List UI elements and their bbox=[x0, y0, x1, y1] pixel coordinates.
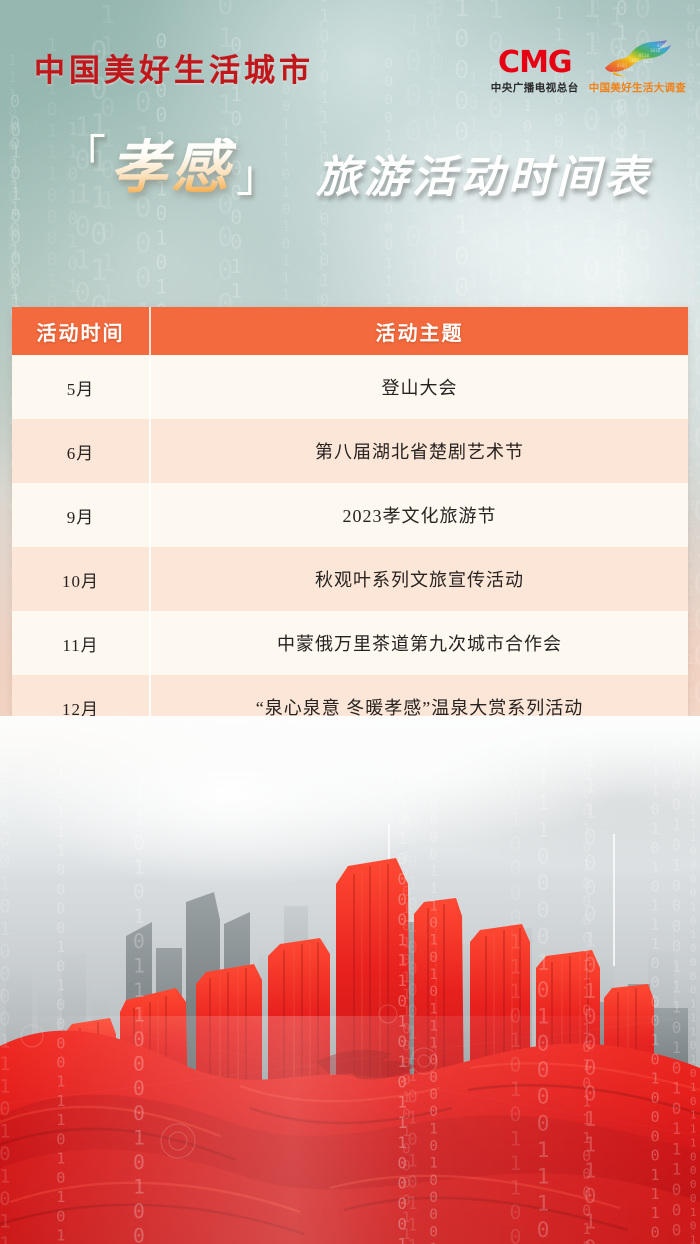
cell-activity-theme: 中蒙俄万里茶道第九次城市合作会 bbox=[150, 611, 688, 675]
svg-text:0011: 0011 bbox=[643, 59, 654, 64]
cmg-wordmark: CMG bbox=[498, 48, 572, 78]
table-body: 5月登山大会6月第八届湖北省楚剧艺术节9月2023孝文化旅游节10月秋观叶系列文… bbox=[12, 355, 688, 739]
survey-logo: 0101 1001 0110 1010 0101 1100 0011 中国美好生… bbox=[589, 38, 686, 95]
table-row: 6月第八届湖北省楚剧艺术节 bbox=[12, 419, 688, 483]
cell-activity-time: 9月 bbox=[12, 483, 150, 547]
cell-activity-theme: 秋观叶系列文旅宣传活动 bbox=[150, 547, 688, 611]
svg-text:0110: 0110 bbox=[639, 53, 650, 58]
cell-activity-time: 11月 bbox=[12, 611, 150, 675]
binary-dove-map-icon: 0101 1001 0110 1010 0101 1100 0011 bbox=[595, 38, 679, 78]
table-row: 9月2023孝文化旅游节 bbox=[12, 483, 688, 547]
city-artwork: 0100001110101011100001010001110000101000… bbox=[0, 716, 700, 1244]
table-row: 10月秋观叶系列文旅宣传活动 bbox=[12, 547, 688, 611]
svg-text:1001: 1001 bbox=[629, 58, 640, 63]
column-header-theme: 活动主题 bbox=[150, 307, 688, 355]
city-name: 孝感 bbox=[106, 138, 236, 196]
poster-root: 0100001110101011100001010001110000101000… bbox=[0, 0, 700, 1244]
activity-schedule-table: 活动时间 活动主题 5月登山大会6月第八届湖北省楚剧艺术节9月2023孝文化旅游… bbox=[12, 307, 688, 739]
survey-logo-subtitle: 中国美好生活大调查 bbox=[589, 80, 686, 95]
cell-activity-theme: 2023孝文化旅游节 bbox=[150, 483, 688, 547]
bracket-right-icon: 」 bbox=[236, 155, 280, 199]
table-head: 活动时间 活动主题 bbox=[12, 307, 688, 355]
column-header-time: 活动时间 bbox=[12, 307, 150, 355]
bracket-left-icon: 「 bbox=[62, 135, 106, 179]
svg-text:0101: 0101 bbox=[657, 43, 668, 48]
cell-activity-time: 10月 bbox=[12, 547, 150, 611]
cell-activity-theme: 第八届湖北省楚剧艺术节 bbox=[150, 419, 688, 483]
table-header-row: 活动时间 活动主题 bbox=[12, 307, 688, 355]
cell-activity-time: 6月 bbox=[12, 419, 150, 483]
brand-title: 中国美好生活城市 bbox=[34, 45, 314, 90]
table-row: 5月登山大会 bbox=[12, 355, 688, 419]
svg-text:1100: 1100 bbox=[623, 67, 634, 72]
svg-text:1010: 1010 bbox=[650, 48, 661, 53]
city-name-group: 「 孝感 」 bbox=[62, 138, 280, 196]
table-row: 11月中蒙俄万里茶道第九次城市合作会 bbox=[12, 611, 688, 675]
logo-group: CMG 中央广播电视总台 bbox=[491, 38, 686, 95]
cell-activity-theme: 登山大会 bbox=[150, 355, 688, 419]
hud-overlay-decoration bbox=[0, 716, 700, 1244]
poster-subtitle: 「 孝感 」 旅游活动时间表 bbox=[0, 132, 700, 224]
cmg-logo: CMG 中央广播电视总台 bbox=[491, 48, 579, 95]
event-schedule-label: 旅游活动时间表 bbox=[316, 156, 652, 200]
poster-header: 中国美好生活城市 CMG 中央广播电视总台 bbox=[0, 0, 700, 300]
cmg-logo-subtitle: 中央广播电视总台 bbox=[491, 80, 579, 95]
cell-activity-time: 5月 bbox=[12, 355, 150, 419]
